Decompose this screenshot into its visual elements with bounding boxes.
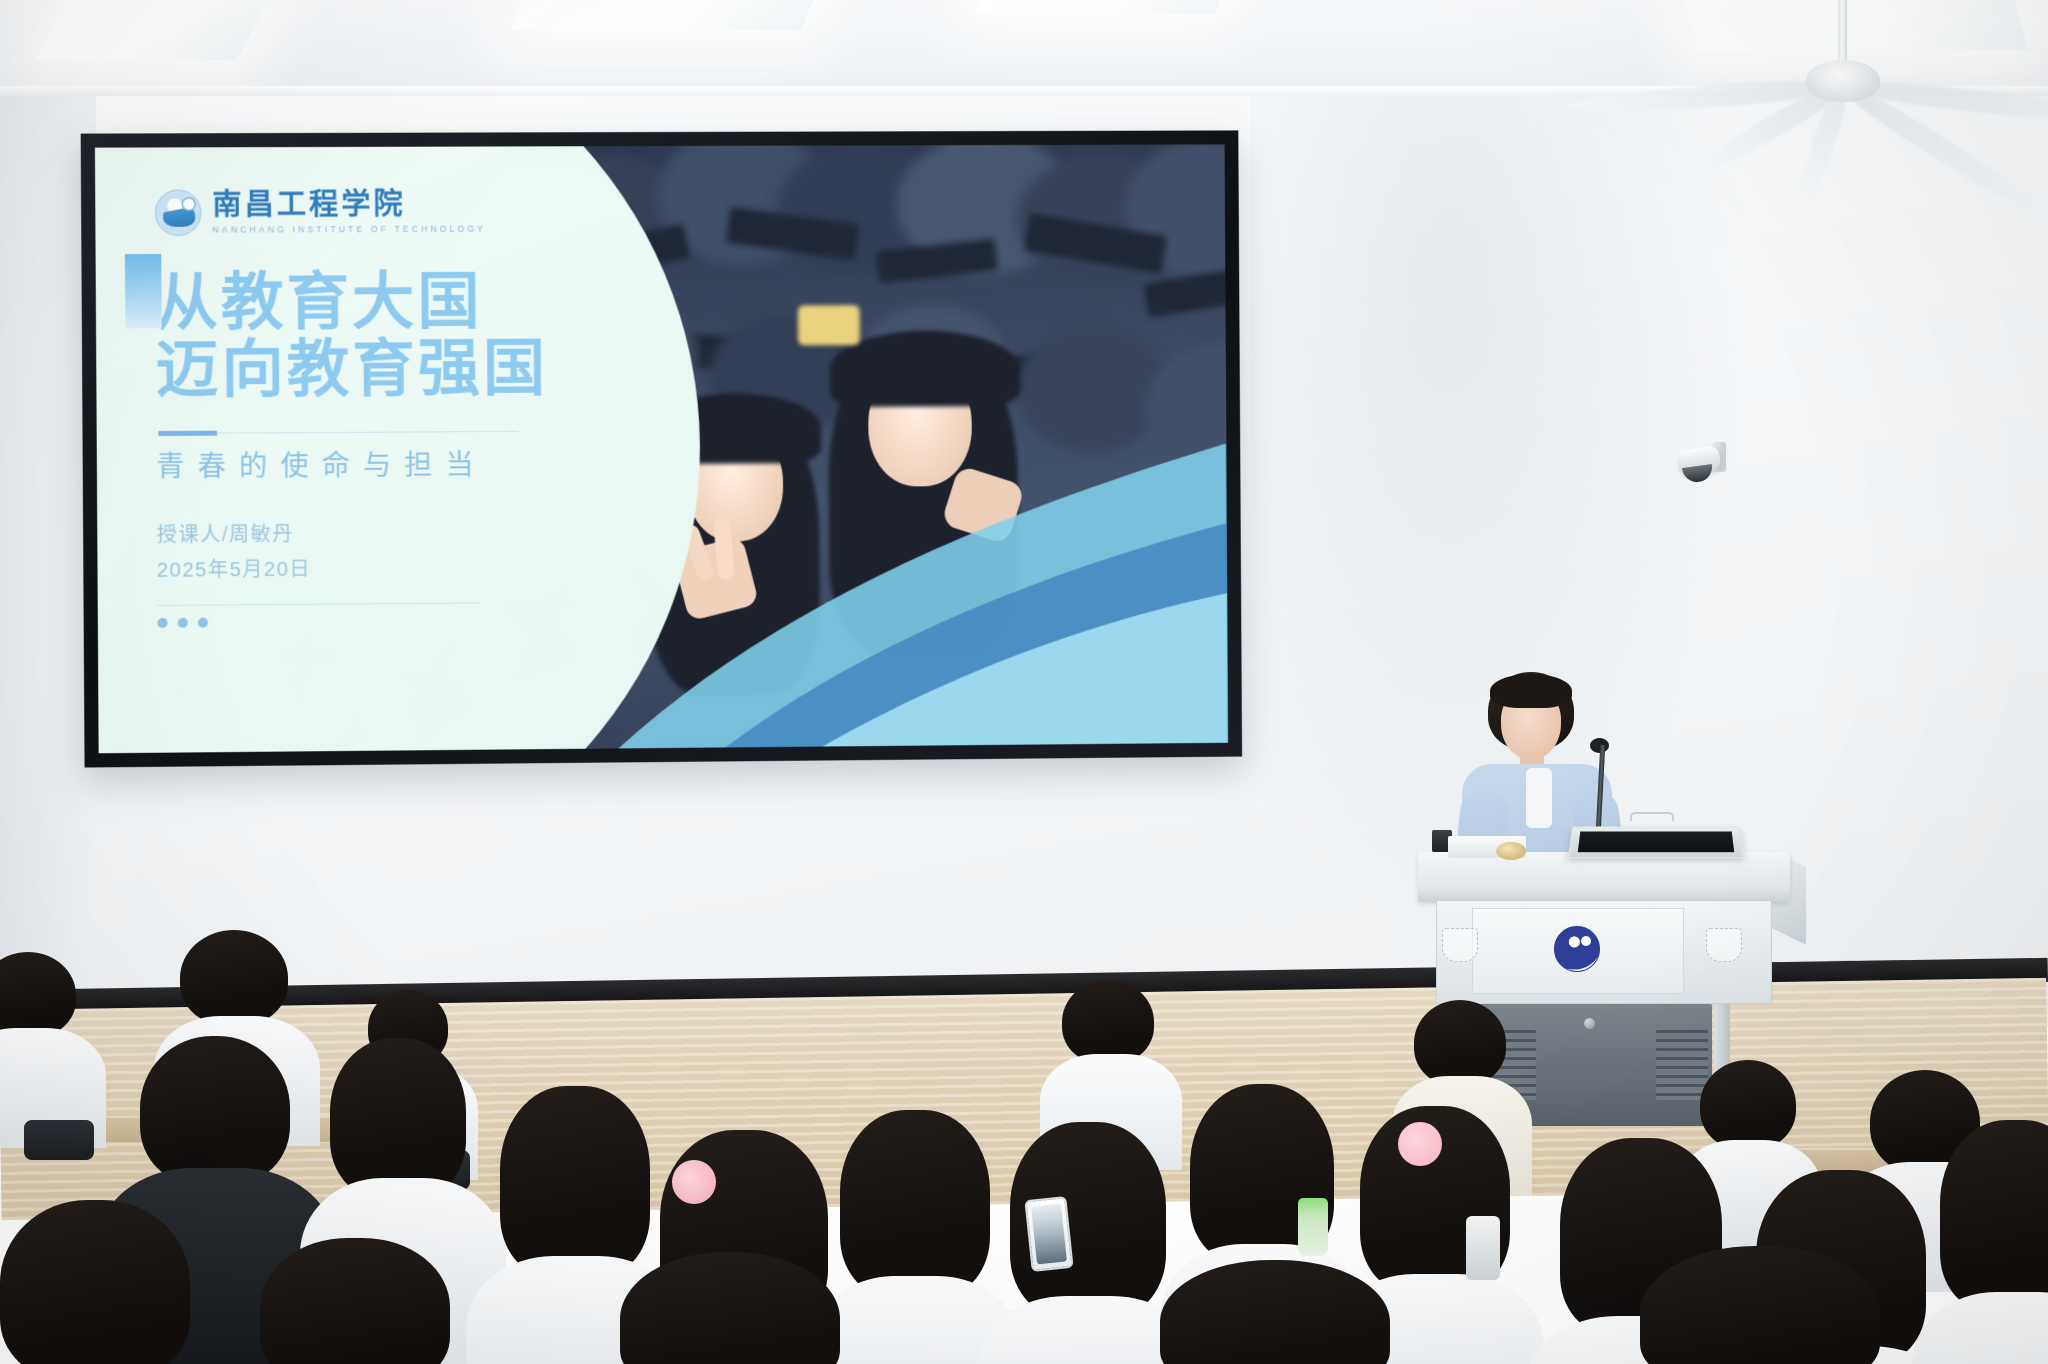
podium-cup-holder-left — [1442, 928, 1478, 962]
monitor-screen — [1578, 831, 1734, 852]
ceiling-fan-hub — [1806, 60, 1880, 102]
slide-subtitle: 青春的使命与担当 — [156, 448, 549, 484]
presenter-inner-top — [1526, 768, 1552, 828]
presentation-slide[interactable]: 南昌工程学院 NANCHANG INSTITUTE OF TECHNOLOGY … — [95, 144, 1228, 753]
podium-vent-right — [1656, 1030, 1708, 1100]
podium-leg-left — [1448, 1004, 1464, 1132]
lecture-hall-scene: 南昌工程学院 NANCHANG INSTITUTE OF TECHNOLOGY … — [0, 0, 2048, 1364]
monitor-icon[interactable] — [1568, 826, 1744, 858]
water-bottle-icon — [1298, 1198, 1328, 1256]
university-seal-icon — [1554, 926, 1600, 972]
title-line-1: 从教育大国 — [155, 269, 548, 338]
monitor-handle[interactable] — [1630, 812, 1674, 821]
podium-vent-left — [1484, 1030, 1536, 1100]
slide-title: 从教育大国 迈向教育强国 — [155, 269, 548, 405]
podium-leg-right — [1714, 1004, 1730, 1132]
presenter-label: 授课人/周敏丹 — [157, 515, 550, 553]
presentation-date: 2025年5月20日 — [157, 550, 550, 588]
ceiling-light-panel — [975, 0, 1225, 14]
podium-cup-holder-right — [1706, 928, 1742, 962]
institution-name-cn: 南昌工程学院 — [212, 190, 486, 220]
ceiling-light-panel — [1681, 0, 2028, 50]
ceiling-light-panel — [36, 0, 273, 60]
slide-meta: 授课人/周敏丹 2025年5月20日 — [157, 515, 550, 627]
wood-grain-texture — [0, 978, 2048, 1220]
wood-wainscot — [0, 978, 2048, 1220]
presenter-bangs — [1490, 674, 1572, 708]
water-bottle-icon — [1466, 1216, 1500, 1280]
ceiling-light-panel — [511, 0, 819, 30]
title-line-2: 迈向教育强国 — [155, 336, 548, 405]
smartphone-screen — [1031, 1204, 1067, 1265]
laser-pointer[interactable] — [1496, 842, 1526, 860]
title-divider — [158, 431, 217, 436]
ceiling-fan-rod — [1838, 0, 1847, 66]
university-logo: 南昌工程学院 NANCHANG INSTITUTE OF TECHNOLOGY — [155, 189, 548, 237]
university-seal-icon — [155, 190, 202, 236]
meta-divider — [157, 602, 479, 606]
institution-name-en: NANCHANG INSTITUTE OF TECHNOLOGY — [212, 224, 486, 235]
smartphone-icon[interactable] — [1024, 1196, 1073, 1272]
slide-text-block: 南昌工程学院 NANCHANG INSTITUTE OF TECHNOLOGY … — [155, 189, 550, 628]
title-accent-bar — [125, 254, 162, 329]
podium-top-surface — [1418, 852, 1790, 902]
podium-lock-knob[interactable] — [1584, 1018, 1595, 1029]
projection-screen[interactable]: 南昌工程学院 NANCHANG INSTITUTE OF TECHNOLOGY … — [81, 130, 1242, 767]
